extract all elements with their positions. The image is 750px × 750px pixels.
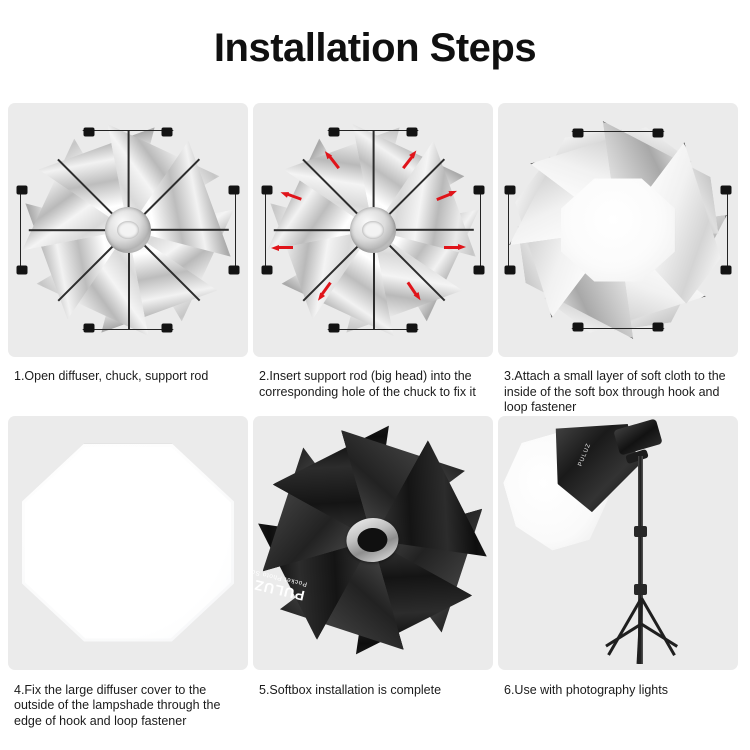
- direction-arrow-icon: [271, 244, 293, 251]
- step-card-2: 2.Insert support rod (big head) into the…: [253, 103, 498, 416]
- softbox-inner-cloth-illustration: [498, 103, 738, 357]
- step-card-1: 1.Open diffuser, chuck, support rod: [8, 103, 253, 416]
- silver-softbox-illustration: [8, 103, 248, 357]
- step-caption-3: 3.Attach a small layer of soft cloth to …: [498, 357, 741, 416]
- step-image-3: [498, 103, 738, 357]
- center-mount-ring: [105, 207, 151, 253]
- softbox-with-arrows-illustration: [253, 103, 493, 357]
- step-card-6: PULUZ 6.Use with photography lights: [498, 416, 743, 730]
- step-caption-1: 1.Open diffuser, chuck, support rod: [8, 357, 251, 385]
- step-card-3: 3.Attach a small layer of soft cloth to …: [498, 103, 743, 416]
- white-diffuser-cover-illustration: [8, 416, 248, 670]
- step-image-2: [253, 103, 493, 357]
- direction-arrow-icon: [444, 244, 466, 251]
- step-card-5: PULUZ Pocket Photo Soft Box 5.Softbox in…: [253, 416, 498, 730]
- stand-lock-knob: [634, 526, 647, 537]
- step-caption-2: 2.Insert support rod (big head) into the…: [253, 357, 496, 400]
- step-caption-5: 5.Softbox installation is complete: [253, 670, 496, 699]
- octagon-body: [20, 130, 236, 330]
- installation-steps-page: Installation Steps: [0, 0, 750, 750]
- step-image-4: [8, 416, 248, 670]
- stand-lock-knob: [634, 584, 647, 595]
- step-card-4: 4.Fix the large diffuser cover to the ou…: [8, 416, 253, 730]
- octagon-body: [508, 131, 728, 329]
- page-title: Installation Steps: [0, 22, 750, 74]
- step-caption-6: 6.Use with photography lights: [498, 670, 741, 699]
- light-stand-illustration: PULUZ: [498, 416, 738, 670]
- octagon-body: [265, 130, 481, 330]
- black-octagon-body: PULUZ Pocket Photo Soft Box: [256, 440, 489, 655]
- black-softbox-illustration: PULUZ Pocket Photo Soft Box: [253, 416, 493, 670]
- center-mount-ring: [350, 207, 396, 253]
- inner-diffuser-cloth: [561, 179, 675, 282]
- step-image-5: PULUZ Pocket Photo Soft Box: [253, 416, 493, 670]
- step-caption-4: 4.Fix the large diffuser cover to the ou…: [8, 670, 251, 730]
- step-image-6: PULUZ: [498, 416, 738, 670]
- white-octagon-diffuser: [22, 444, 234, 642]
- steps-grid: 1.Open diffuser, chuck, support rod: [8, 103, 742, 729]
- step-image-1: [8, 103, 248, 357]
